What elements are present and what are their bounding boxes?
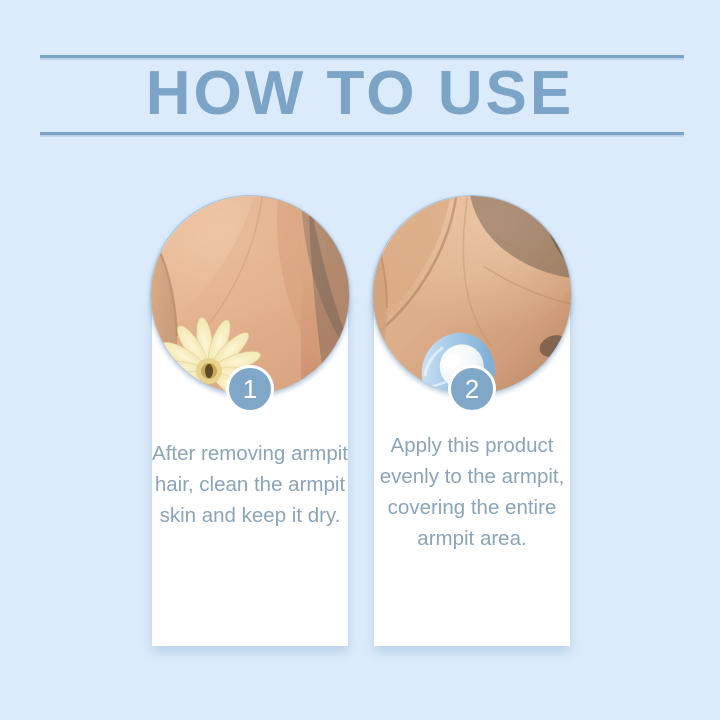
steps-container: 1 After removing armpit hair, clean the … (0, 190, 720, 660)
step-2-description: Apply this product evenly to the armpit,… (364, 430, 580, 554)
page-title: HOW TO USE (0, 56, 720, 132)
step-1-number-badge: 1 (226, 365, 274, 413)
page-header: HOW TO USE (0, 0, 720, 170)
step-1-description: After removing armpit hair, clean the ar… (137, 438, 363, 531)
step-2-number-badge: 2 (448, 365, 496, 413)
step-card-1: 1 After removing armpit hair, clean the … (150, 190, 350, 660)
header-divider-bottom (40, 132, 684, 135)
step-card-2: 2 Apply this product evenly to the armpi… (372, 190, 572, 660)
